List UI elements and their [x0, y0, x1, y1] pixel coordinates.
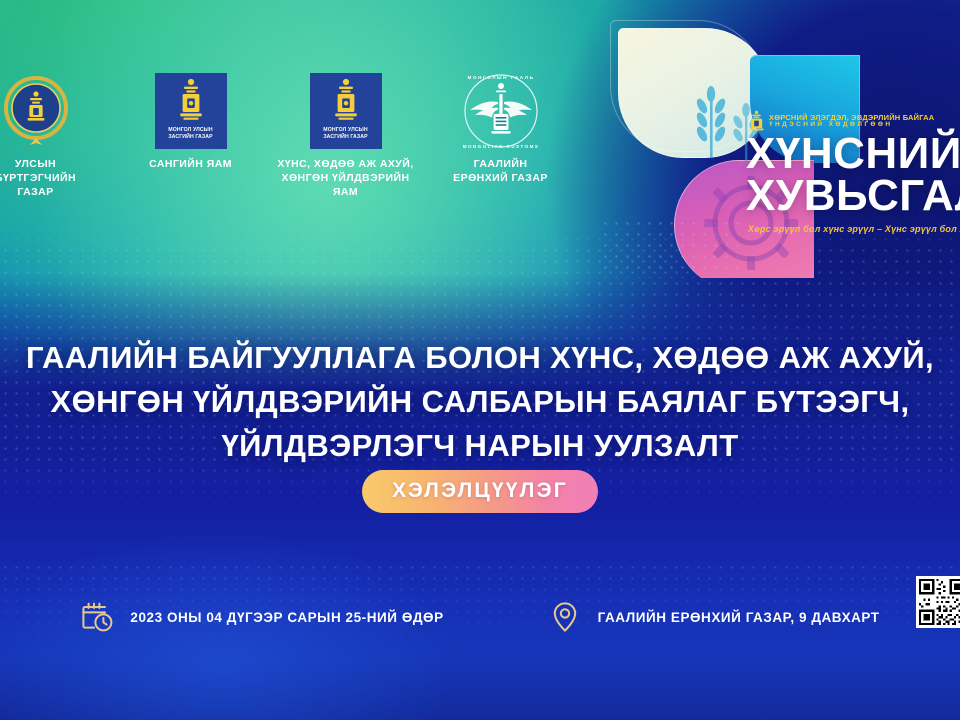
partner-logo-row: УЛСЫН БҮРТГЭГЧИЙН ГАЗАР: [0, 72, 578, 222]
calendar-clock-icon: [80, 600, 114, 634]
headline-line-1: ГААЛИЙН БАЙГУУЛЛАГА БОЛОН ХҮНС, ХӨДӨӨ АЖ…: [0, 336, 960, 380]
headline: ГААЛИЙН БАЙГУУЛЛАГА БОЛОН ХҮНС, ХӨДӨӨ АЖ…: [0, 336, 960, 468]
location-info: ГААЛИЙН ЕРӨНХИЙ ГАЗАР, 9 ДАВХАРТ: [548, 600, 880, 634]
partner-logo-1: УЛСЫН БҮРТГЭГЧИЙН ГАЗАР: [0, 72, 113, 200]
partner-logo-2-caption: САНГИЙН ЯАМ: [149, 158, 232, 172]
brand-emblem-line2: ҮНДЭСНИЙ ХӨДӨЛГӨӨН: [769, 122, 934, 129]
partner-logo-3-tile-caption: МОНГОЛ УЛСЫН ЗАСГИЙН ГАЗАР: [323, 127, 367, 141]
headline-line-3: ҮЙЛДВЭРЛЭГЧ НАРЫН УУЛЗАЛТ: [0, 424, 960, 468]
date-text: 2023 ОНЫ 04 ДҮГЭЭР САРЫН 25-НИЙ ӨДӨР: [130, 610, 443, 625]
mongolia-government-tile-icon: МОНГОЛ УЛСЫН ЗАСГИЙН ГАЗАР: [310, 72, 382, 150]
event-banner: ХӨРСНИЙ ЭЛЭГДЭЛ, ЭВДЭРЛИЙН БАЙГАА ҮНДЭСН…: [0, 0, 960, 720]
headline-line-2: ХӨНГӨН ҮЙЛДВЭРИЙН САЛБАРЫН БАЯЛАГ БҮТЭЭГ…: [0, 380, 960, 424]
date-info: 2023 ОНЫ 04 ДҮГЭЭР САРЫН 25-НИЙ ӨДӨР: [80, 600, 443, 634]
brand-emblem-text: ХӨРСНИЙ ЭЛЭГДЭЛ, ЭВДЭРЛИЙН БАЙГАА ҮНДЭСН…: [769, 114, 934, 129]
brand-tagline: Хөрс эрүүл бол хүнс эрүүл – Хүнс эрүүл б…: [748, 224, 960, 234]
partner-logo-2-tile-caption: МОНГОЛ УЛСЫН ЗАСГИЙН ГАЗАР: [168, 127, 212, 141]
background-dot-pattern-lower: [0, 562, 960, 720]
campaign-brand-lockup: ХӨРСНИЙ ЭЛЭГДЭЛ, ЭВДЭРЛИЙН БАЙГАА ҮНДЭСН…: [690, 110, 960, 234]
partner-logo-3-caption: ХҮНС, ХӨДӨӨ АЖ АХУЙ, ХӨНГӨН ҮЙЛДВЭРИЙН Я…: [277, 158, 413, 200]
state-seal-icon: [1, 72, 71, 150]
location-text: ГААЛИЙН ЕРӨНХИЙ ГАЗАР, 9 ДАВХАРТ: [598, 610, 880, 625]
qr-code-icon[interactable]: [916, 576, 960, 628]
brand-word-line2: ХУВЬСГАЛ: [746, 176, 960, 216]
partner-logo-3: МОНГОЛ УЛСЫН ЗАСГИЙН ГАЗАР ХҮНС, ХӨДӨӨ А…: [268, 72, 423, 200]
brand-word-line1: ХҮНСНИЙ: [746, 134, 960, 174]
svg-text:МОНГОЛЫН ГААЛЬ: МОНГОЛЫН ГААЛЬ: [467, 75, 534, 80]
mongolian-customs-icon: МОНГОЛЫН ГААЛЬ MONGOLIAN CUSTOMS: [460, 72, 542, 150]
svg-text:MONGOLIAN CUSTOMS: MONGOLIAN CUSTOMS: [462, 144, 539, 149]
partner-logo-4-caption: ГААЛИЙН ЕРӨНХИЙ ГАЗАР: [453, 158, 548, 186]
partner-logo-1-caption: УЛСЫН БҮРТГЭГЧИЙН ГАЗАР: [0, 158, 76, 200]
partner-logo-4: МОНГОЛЫН ГААЛЬ MONGOLIAN CUSTOMS ГААЛИЙН…: [423, 72, 578, 186]
footer-info-row: 2023 ОНЫ 04 ДҮГЭЭР САРЫН 25-НИЙ ӨДӨР ГАА…: [0, 600, 960, 634]
event-type-badge: ХЭЛЭЛЦҮҮЛЭГ: [362, 470, 598, 513]
map-pin-icon: [548, 600, 582, 634]
partner-logo-2: МОНГОЛ УЛСЫН ЗАСГИЙН ГАЗАР САНГИЙН ЯАМ: [113, 72, 268, 172]
badge-row: ХЭЛЭЛЦҮҮЛЭГ: [0, 470, 960, 513]
mongolia-government-tile-icon: МОНГОЛ УЛСЫН ЗАСГИЙН ГАЗАР: [155, 72, 227, 150]
